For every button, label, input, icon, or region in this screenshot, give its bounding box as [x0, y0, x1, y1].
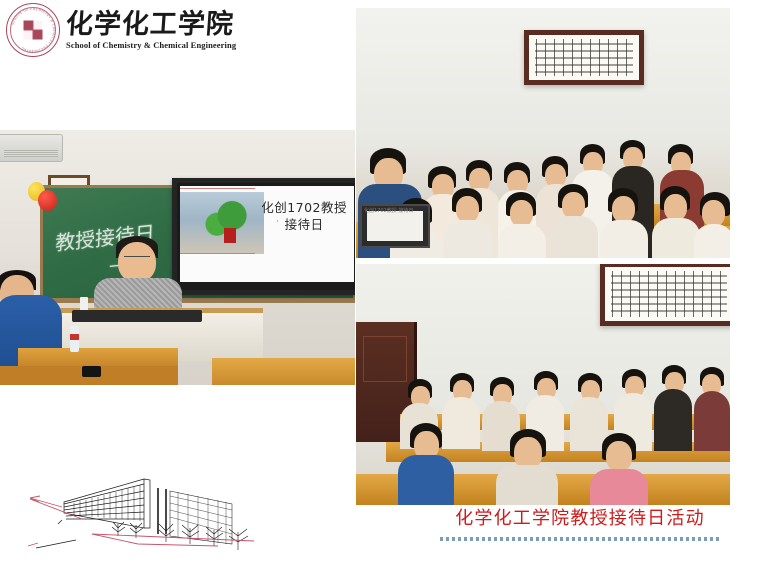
podium-bottle	[80, 297, 88, 314]
caption-title: 化学化工学院教授接待日活动	[440, 508, 720, 530]
sketch-red-guides	[28, 496, 254, 546]
seal-center-emblem	[24, 21, 43, 40]
calligraphy-strokes-secondary	[535, 41, 633, 74]
photo-lecture-room: 教授接待日 一起 化创1702教授 接待日	[0, 130, 355, 385]
mobile-phone	[82, 366, 101, 377]
air-conditioner	[0, 134, 63, 162]
water-bottle	[70, 326, 79, 352]
calligraphy-strokes-secondary	[611, 273, 727, 315]
slide-title: 化创1702教授 接待日	[261, 200, 347, 234]
sketch-building	[36, 479, 232, 548]
school-logo-lockup: SCHOOL OF CHEMISTRY & CHEMICAL ENGINEERI…	[6, 2, 256, 58]
caption-block: 化学化工学院教授接待日活动	[440, 508, 720, 541]
school-title-cn: 化学化工学院	[65, 11, 237, 38]
student-desk-right	[212, 358, 355, 385]
school-seal-icon: SCHOOL OF CHEMISTRY & CHEMICAL ENGINEERI…	[6, 3, 60, 57]
building-line-sketch	[18, 458, 308, 563]
balloon-red	[38, 190, 57, 211]
teacher-glasses	[124, 256, 150, 263]
photo-classroom-audience	[356, 264, 730, 505]
sketch-svg	[18, 458, 308, 563]
caption-dotted-rule	[440, 537, 720, 541]
wordmark: 化学化工学院 School of Chemistry & Chemical En…	[66, 11, 236, 50]
slide-content: 化创1702教授 接待日	[180, 186, 354, 282]
projector-display: 化创1702教授 接待日	[172, 178, 355, 295]
whiteboard-label: 化创1702教授 接待日	[364, 208, 422, 234]
slide-title-line2: 接待日	[261, 217, 347, 234]
photo-group-shot: 化创1702教授 接待日	[356, 8, 730, 258]
slide-title-line1: 化创1702教授	[261, 200, 347, 217]
student-desk-left	[18, 348, 178, 366]
seated-students	[356, 345, 730, 505]
calligraphy-frame	[600, 264, 730, 326]
calligraphy-frame	[524, 30, 644, 85]
school-title-en: School of Chemistry & Chemical Engineeri…	[66, 41, 236, 50]
